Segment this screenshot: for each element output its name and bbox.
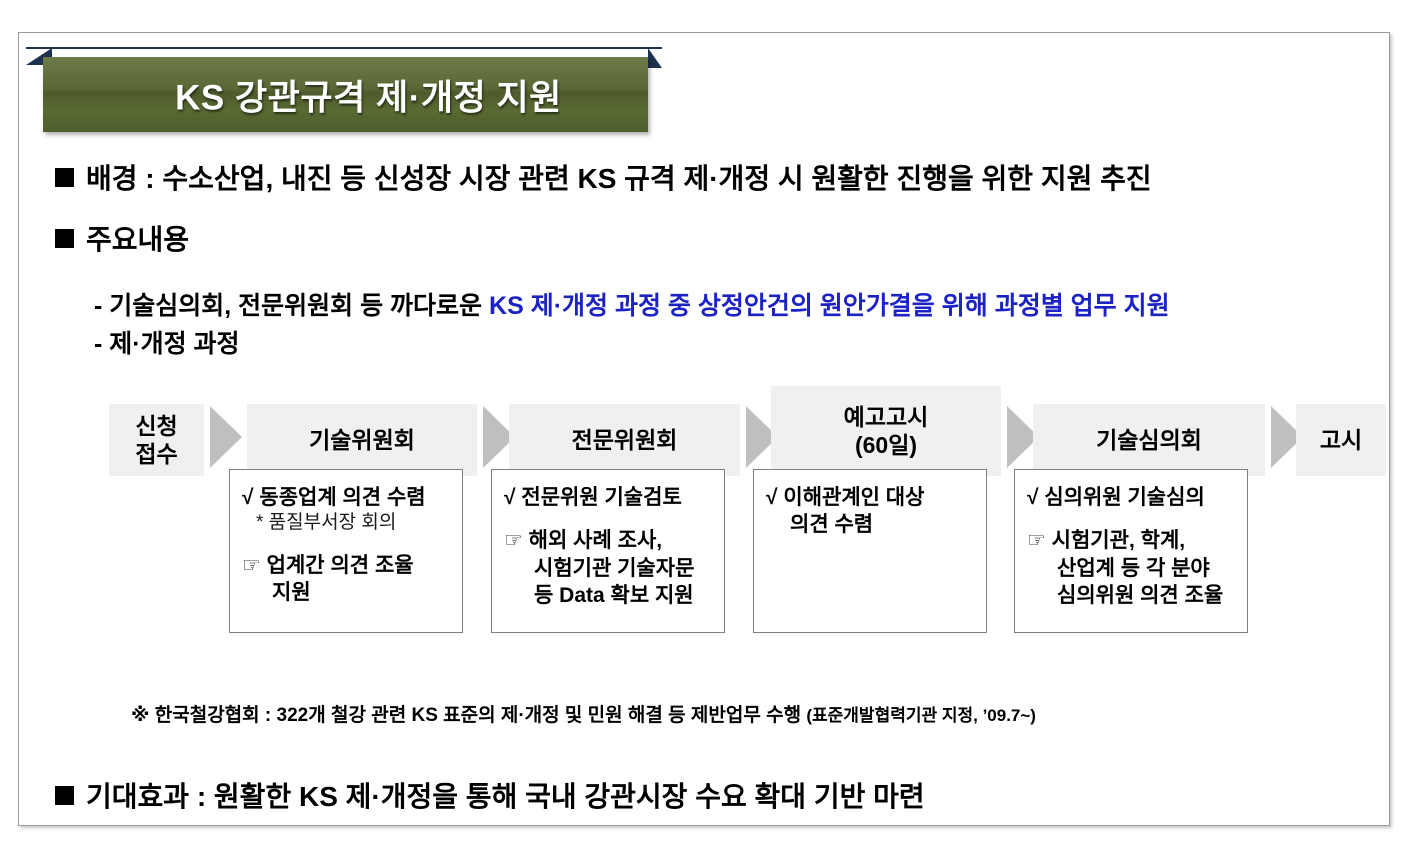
detail-2-hand-text-3-wrap: 등 Data 확보 지원 bbox=[504, 582, 714, 609]
detail-2-hand-text-1: 해외 사례 조사, bbox=[529, 529, 662, 552]
slide-canvas: KS 강관규격 제·개정 지원 배경 : 수소산업, 내진 등 신성장 시장 관… bbox=[18, 32, 1390, 826]
detail-1-hand-text-2-wrap: 지원 bbox=[242, 579, 452, 606]
detail-1-note: * 품질부서장 회의 bbox=[242, 511, 452, 536]
flow-step-deliberation-committee: 기술심의회 bbox=[1033, 404, 1265, 476]
background-label: 배경 : 수소산업, 내진 등 신성장 시장 관련 KS 규격 제·개정 시 원… bbox=[86, 163, 1152, 194]
flow-step-public-notice-line2: (60일) bbox=[844, 431, 929, 459]
detail-3-check-line: √ 이해관계인 대상 bbox=[766, 484, 976, 511]
footnote-text: 한국철강협회 : 322개 철강 관련 KS 표준의 제·개정 및 민원 해결 … bbox=[155, 705, 801, 726]
process-flow-diagram: 신청 접수 기술위원회 전문위원회 예고고시 (60일) 기술심의회 고시 bbox=[109, 386, 1369, 476]
detail-4-hand-text-2-wrap: 산업계 등 각 분야 bbox=[1027, 555, 1237, 582]
detail-4-hand-text-1: 시험기관, 학계, bbox=[1052, 529, 1185, 552]
detail-1-hand-line: ☞ 업계간 의견 조율 bbox=[242, 552, 452, 579]
flow-step-application-line2: 접수 bbox=[135, 440, 177, 468]
flow-step-tech-committee: 기술위원회 bbox=[247, 404, 477, 476]
detail-1-hand-text-1: 업계간 의견 조율 bbox=[267, 554, 414, 577]
bullet-square-icon bbox=[55, 229, 74, 248]
detail-1-check-text: 동종업계 의견 수렴 bbox=[259, 486, 425, 509]
background-section: 배경 : 수소산업, 내진 등 신성장 시장 관련 KS 규격 제·개정 시 원… bbox=[55, 162, 1152, 196]
bullet-square-icon bbox=[55, 786, 74, 805]
flow-step-deliberation-committee-label: 기술심의회 bbox=[1096, 426, 1202, 454]
flow-step-expert-committee: 전문위원회 bbox=[509, 404, 740, 476]
pointing-hand-icon: ☞ bbox=[242, 554, 261, 577]
detail-4-check-text: 심의위원 기술심의 bbox=[1044, 486, 1204, 509]
detail-2-check-text: 전문위원 기술검토 bbox=[521, 486, 681, 509]
flow-step-notification-label: 고시 bbox=[1320, 426, 1362, 454]
detail-box-3: √ 이해관계인 대상 의견 수렴 bbox=[753, 469, 987, 633]
detail-3-check-text-1: 이해관계인 대상 bbox=[783, 486, 924, 509]
slide-title: KS 강관규격 제·개정 지원 bbox=[43, 69, 648, 120]
main-content-item-2: - 제·개정 과정 bbox=[94, 324, 240, 360]
detail-box-1: √ 동종업계 의견 수렴 * 품질부서장 회의 ☞ 업계간 의견 조율 지원 bbox=[229, 469, 463, 633]
flow-step-expert-committee-label: 전문위원회 bbox=[572, 426, 678, 454]
footnote-paren: (표준개발협력기관 지정, ’09.7~) bbox=[806, 706, 1036, 725]
detail-box-4: √ 심의위원 기술심의 ☞ 시험기관, 학계, 산업계 등 각 분야 심의위원 … bbox=[1014, 469, 1248, 633]
detail-3-check-text-2: 의견 수렴 bbox=[790, 513, 873, 536]
pointing-hand-icon: ☞ bbox=[504, 529, 523, 552]
footnote-mark-icon: ※ bbox=[131, 705, 149, 726]
detail-4-check-line: √ 심의위원 기술심의 bbox=[1027, 484, 1237, 511]
title-ribbon-line bbox=[26, 47, 662, 49]
flow-step-notification: 고시 bbox=[1296, 404, 1386, 476]
item-1-highlight: KS 제·개정 과정 중 상정안건의 원안가결을 위해 과정별 업무 지원 bbox=[489, 292, 1170, 320]
detail-4-hand-text-2: 산업계 등 각 분야 bbox=[1057, 557, 1210, 580]
flow-step-public-notice-line1: 예고고시 bbox=[844, 403, 929, 431]
detail-2-check-line: √ 전문위원 기술검토 bbox=[504, 484, 714, 511]
expected-effect-section: 기대효과 : 원활한 KS 제·개정을 통해 국내 강관시장 수요 확대 기반 … bbox=[55, 780, 925, 814]
slide-title-banner: KS 강관규격 제·개정 지원 bbox=[43, 57, 648, 132]
bullet-square-icon bbox=[55, 168, 74, 187]
pointing-hand-icon: ☞ bbox=[1027, 529, 1046, 552]
check-mark-icon: √ bbox=[504, 486, 516, 509]
detail-1-hand-text-2: 지원 bbox=[272, 581, 311, 604]
main-content-label: 주요내용 bbox=[86, 224, 189, 255]
check-mark-icon: √ bbox=[766, 486, 778, 509]
detail-2-hand-text-2: 시험기관 기술자문 bbox=[534, 557, 694, 580]
flow-arrow-1-icon bbox=[210, 406, 242, 468]
detail-2-hand-text-2-wrap: 시험기관 기술자문 bbox=[504, 555, 714, 582]
detail-1-check-line: √ 동종업계 의견 수렴 bbox=[242, 484, 452, 511]
flow-step-public-notice: 예고고시 (60일) bbox=[771, 386, 1001, 476]
flow-step-application-line1: 신청 bbox=[135, 412, 177, 440]
detail-2-hand-line: ☞ 해외 사례 조사, bbox=[504, 527, 714, 554]
footnote: ※ 한국철강협회 : 322개 철강 관련 KS 표준의 제·개정 및 민원 해… bbox=[131, 700, 1036, 727]
detail-3-check-text-2-wrap: 의견 수렴 bbox=[766, 511, 976, 538]
flow-step-tech-committee-label: 기술위원회 bbox=[309, 426, 415, 454]
check-mark-icon: √ bbox=[242, 486, 254, 509]
expected-effect-label: 기대효과 : 원활한 KS 제·개정을 통해 국내 강관시장 수요 확대 기반 … bbox=[86, 781, 925, 812]
detail-2-hand-text-3: 등 Data 확보 지원 bbox=[534, 584, 694, 607]
detail-4-hand-text-3: 심의위원 의견 조율 bbox=[1057, 584, 1223, 607]
item-1-prefix: - 기술심의회, 전문위원회 등 까다로운 bbox=[94, 292, 489, 320]
detail-4-hand-line: ☞ 시험기관, 학계, bbox=[1027, 527, 1237, 554]
title-ribbon-right-tail-icon bbox=[648, 48, 662, 68]
detail-4-hand-text-3-wrap: 심의위원 의견 조율 bbox=[1027, 582, 1237, 609]
check-mark-icon: √ bbox=[1027, 486, 1039, 509]
detail-box-2: √ 전문위원 기술검토 ☞ 해외 사례 조사, 시험기관 기술자문 등 Data… bbox=[491, 469, 725, 633]
main-content-heading: 주요내용 bbox=[55, 223, 189, 257]
flow-step-application: 신청 접수 bbox=[109, 404, 204, 476]
item-2-prefix: - 제·개정 과정 bbox=[94, 330, 240, 358]
main-content-item-1: - 기술심의회, 전문위원회 등 까다로운 KS 제·개정 과정 중 상정안건의… bbox=[94, 286, 1170, 322]
